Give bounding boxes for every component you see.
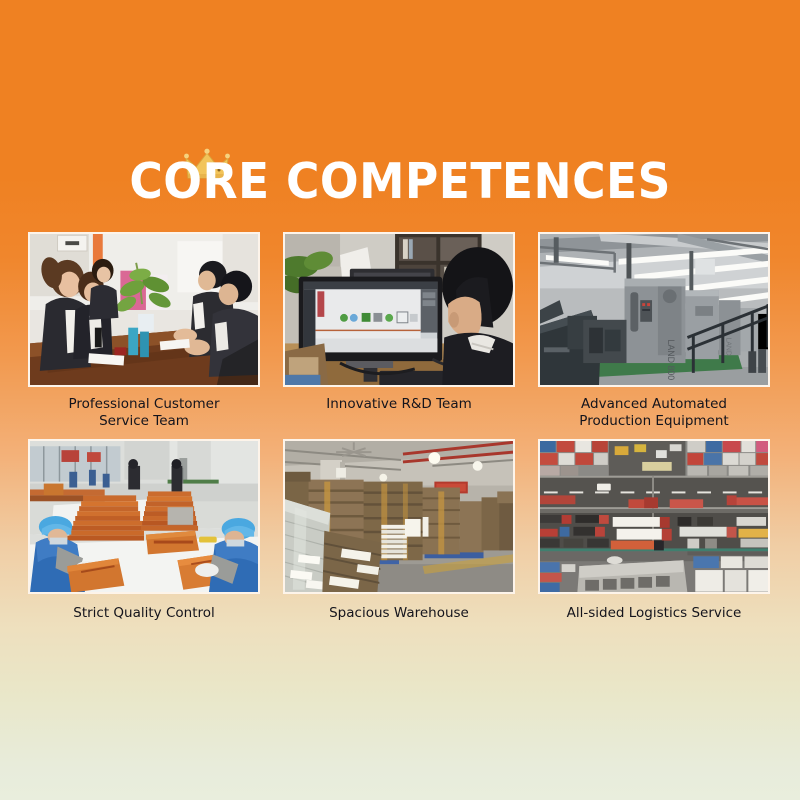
svg-text:LAND 800: LAND 800 xyxy=(666,339,676,380)
competence-caption: Professional Customer Service Team xyxy=(28,396,260,430)
competence-caption: Advanced Automated Production Equipment xyxy=(538,396,770,430)
competence-card-all-sided-logistics-service[interactable]: All-sided Logistics Service xyxy=(538,439,770,622)
quality-inspection-photo xyxy=(28,439,260,594)
designer-at-computer-photo xyxy=(283,232,515,387)
competence-caption: Spacious Warehouse xyxy=(283,605,515,622)
competence-card-advanced-automated-production-equipment[interactable]: LAND 800 LAND xyxy=(538,232,770,430)
meeting-room-photo xyxy=(28,232,260,387)
competence-caption: Innovative R&D Team xyxy=(283,396,515,413)
svg-text:LAND: LAND xyxy=(725,338,732,356)
competence-card-professional-customer-service-team[interactable]: Professional Customer Service Team xyxy=(28,232,260,430)
warehouse-pallets-photo xyxy=(283,439,515,594)
competence-card-spacious-warehouse[interactable]: Spacious Warehouse xyxy=(283,439,515,622)
page-header: CORE COMPETENCES xyxy=(0,0,800,208)
competence-card-strict-quality-control[interactable]: Strict Quality Control xyxy=(28,439,260,622)
competence-caption: All-sided Logistics Service xyxy=(538,605,770,622)
competence-caption: Strict Quality Control xyxy=(28,605,260,622)
grid-row: Professional Customer Service Team xyxy=(28,232,772,430)
grid-row: Strict Quality Control xyxy=(28,439,772,622)
competence-card-innovative-rd-team[interactable]: Innovative R&D Team xyxy=(283,232,515,430)
page-title: CORE COMPETENCES xyxy=(129,156,671,208)
competences-grid: Professional Customer Service Team xyxy=(28,232,772,622)
printing-press-hall-photo: LAND 800 LAND xyxy=(538,232,770,387)
container-port-aerial-photo xyxy=(538,439,770,594)
